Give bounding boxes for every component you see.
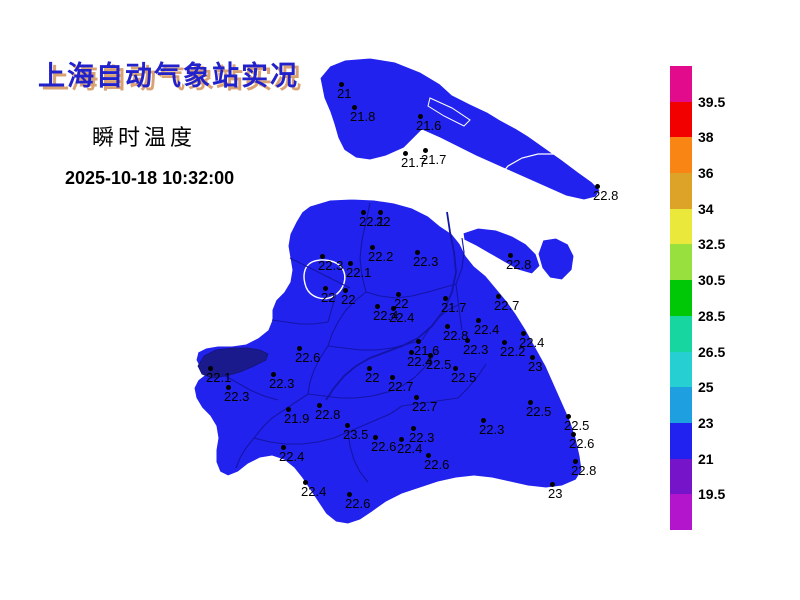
station-temperature-label: 22.2 [368,249,393,264]
station-temperature-label: 22.4 [397,441,422,456]
station-temperature-label: 22.8 [571,463,596,478]
colorbar-band [670,280,692,316]
colorbar-band [670,494,692,530]
colorbar-band [670,387,692,423]
colorbar-tick-label: 30.5 [698,272,725,288]
temperature-colorbar: 39.538363432.530.528.526.525232119.5 [670,66,692,530]
hengsha-island-shape [538,238,574,280]
colorbar-tick-label: 21 [698,451,714,467]
station-temperature-label: 21.7 [421,152,446,167]
station-temperature-label: 22.3 [479,422,504,437]
station-temperature-label: 22.7 [494,298,519,313]
station-temperature-label: 21.6 [416,118,441,133]
station-temperature-label: 22.7 [412,399,437,414]
station-temperature-label: 23 [528,359,542,374]
colorbar-tick-label: 19.5 [698,486,725,502]
station-temperature-label: 22 [376,214,390,229]
station-temperature-label: 22.6 [569,436,594,451]
colorbar-band [670,66,692,102]
station-temperature-label: 22.5 [451,370,476,385]
station-temperature-label: 22.3 [463,342,488,357]
station-temperature-label: 22.4 [389,310,414,325]
station-temperature-label: 22.5 [426,357,451,372]
station-temperature-label: 22.4 [301,484,326,499]
colorbar-band [670,137,692,173]
weather-map-page: 上海自动气象站实况 上海自动气象站实况 瞬时温度 2025-10-18 10:3… [0,0,800,600]
station-temperature-label: 21.7 [441,300,466,315]
colorbar-band [670,352,692,388]
station-temperature-label: 22.6 [371,439,396,454]
colorbar-tick-label: 28.5 [698,308,725,324]
colorbar-tick-label: 38 [698,129,714,145]
station-temperature-label: 23.5 [343,427,368,442]
station-temperature-label: 22.1 [206,370,231,385]
station-temperature-label: 22.3 [224,389,249,404]
station-temperature-label: 22 [321,290,335,305]
station-temperature-label: 21 [337,86,351,101]
station-temperature-label: 22.3 [269,376,294,391]
map-canvas[interactable]: 2121.821.621.721.722.822.822.12222.322.1… [0,0,660,600]
colorbar-tick-label: 32.5 [698,236,725,252]
station-temperature-label: 22.4 [279,449,304,464]
station-temperature-label: 22.7 [388,379,413,394]
chongming-island-shape [320,58,600,200]
colorbar-band [670,209,692,245]
colorbar-band [670,316,692,352]
colorbar-tick-label: 39.5 [698,94,725,110]
station-temperature-label: 22.4 [519,335,544,350]
colorbar-tick-label: 34 [698,201,714,217]
colorbar-band [670,459,692,495]
colorbar-band [670,244,692,280]
colorbar-tick-label: 23 [698,415,714,431]
station-temperature-label: 21.9 [284,411,309,426]
colorbar-band [670,102,692,138]
colorbar-tick-label: 25 [698,379,714,395]
colorbar-band [670,423,692,459]
station-temperature-label: 22.3 [413,254,438,269]
station-temperature-label: 22.8 [315,407,340,422]
station-temperature-label: 22.4 [474,322,499,337]
station-temperature-label: 22 [365,370,379,385]
station-temperature-label: 22.8 [506,257,531,272]
colorbar-tick-label: 26.5 [698,344,725,360]
colorbar-band [670,173,692,209]
station-temperature-label: 22.3 [318,258,343,273]
colorbar-tick-label: 36 [698,165,714,181]
station-temperature-label: 22.6 [424,457,449,472]
station-temperature-label: 23 [548,486,562,501]
station-temperature-label: 22.5 [526,404,551,419]
station-temperature-label: 22.1 [346,265,371,280]
station-temperature-label: 22.8 [593,188,618,203]
station-temperature-label: 21.8 [350,109,375,124]
station-temperature-label: 22.6 [345,496,370,511]
station-temperature-label: 22.5 [564,418,589,433]
station-temperature-label: 22.6 [295,350,320,365]
station-temperature-label: 22 [341,292,355,307]
